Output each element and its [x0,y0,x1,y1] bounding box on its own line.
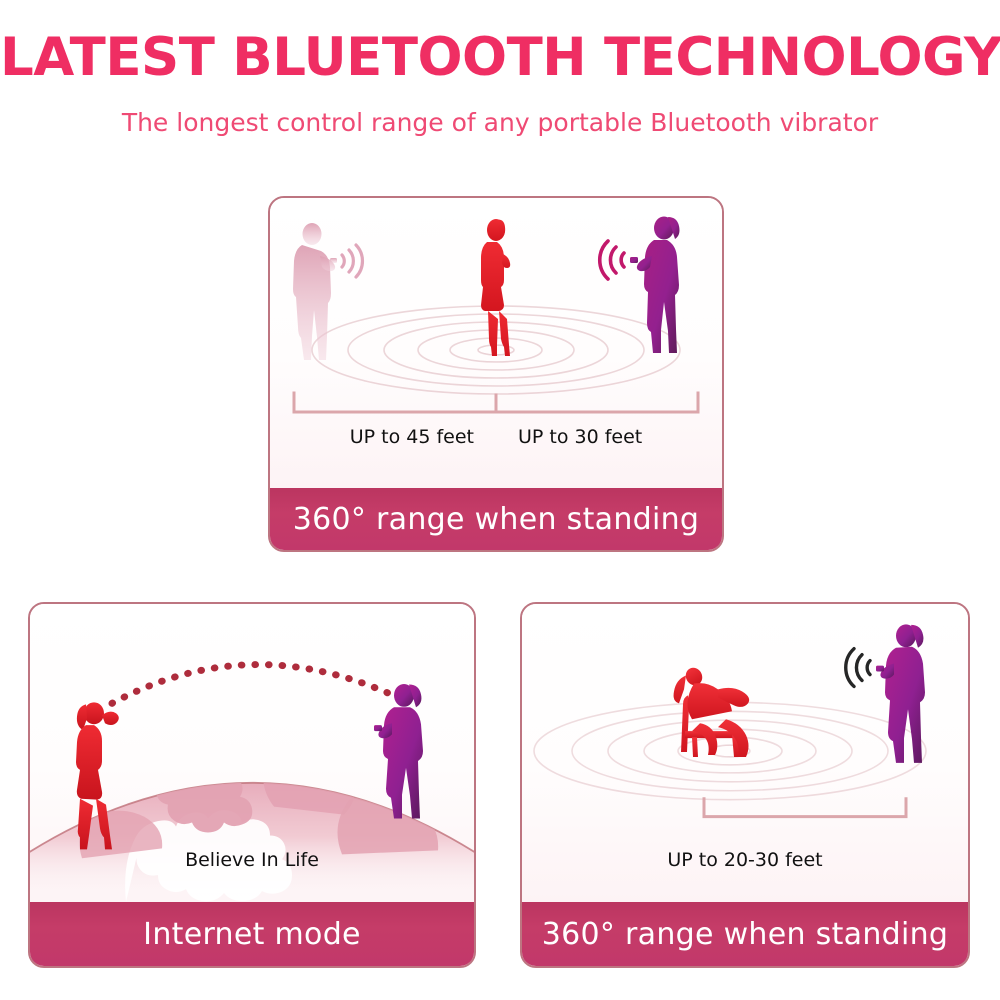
card-standing-range-footer: 360° range when standing [270,488,722,550]
figure-red-woman-center [481,219,510,356]
range-captions: UP to 45 feet UP to 30 feet [270,426,722,448]
footer-label-internet-mode: Internet mode [143,917,361,952]
radar-rings [534,702,926,799]
caption-believe-in-life: Believe In Life [185,849,319,871]
card-internet-mode-body: Believe In Life [30,604,474,902]
footer-label-360-standing: 360° range when standing [293,502,700,537]
figure-purple-man-right [630,217,680,354]
card-seated-range-footer: 360° range when standing [522,902,968,966]
bluetooth-waves-right [846,649,870,687]
caption-up-to-20-30-feet: UP to 20-30 feet [667,849,822,871]
page-title: LATEST BLUETOOTH TECHNOLOGY [0,0,1000,86]
page-header: LATEST BLUETOOTH TECHNOLOGY The longest … [0,0,1000,138]
figure-purple-man-right [374,684,423,819]
card-internet-mode: Believe In Life Internet mode [28,602,476,968]
figure-faded-person-left [293,223,337,360]
card-standing-range: UP to 45 feet UP to 30 feet 360° range w… [268,196,724,552]
card-seated-range-body: UP to 20-30 feet [522,604,968,902]
caption-up-to-45-feet: UP to 45 feet [350,426,474,448]
range-bracket [294,393,698,412]
dotted-connection-arc [112,665,402,704]
bluetooth-waves-right [600,241,624,279]
page-subtitle: The longest control range of any portabl… [0,86,1000,138]
internet-mode-caption-row: Believe In Life [30,849,474,871]
range-bracket [704,799,906,817]
card-seated-range: UP to 20-30 feet 360° range when standin… [520,602,970,968]
seated-range-caption-row: UP to 20-30 feet [522,849,968,871]
bluetooth-waves-left [342,245,362,277]
caption-up-to-30-feet: UP to 30 feet [518,426,642,448]
card-internet-mode-footer: Internet mode [30,902,474,966]
footer-label-360-standing: 360° range when standing [542,917,949,952]
card-standing-range-body: UP to 45 feet UP to 30 feet [270,198,722,488]
